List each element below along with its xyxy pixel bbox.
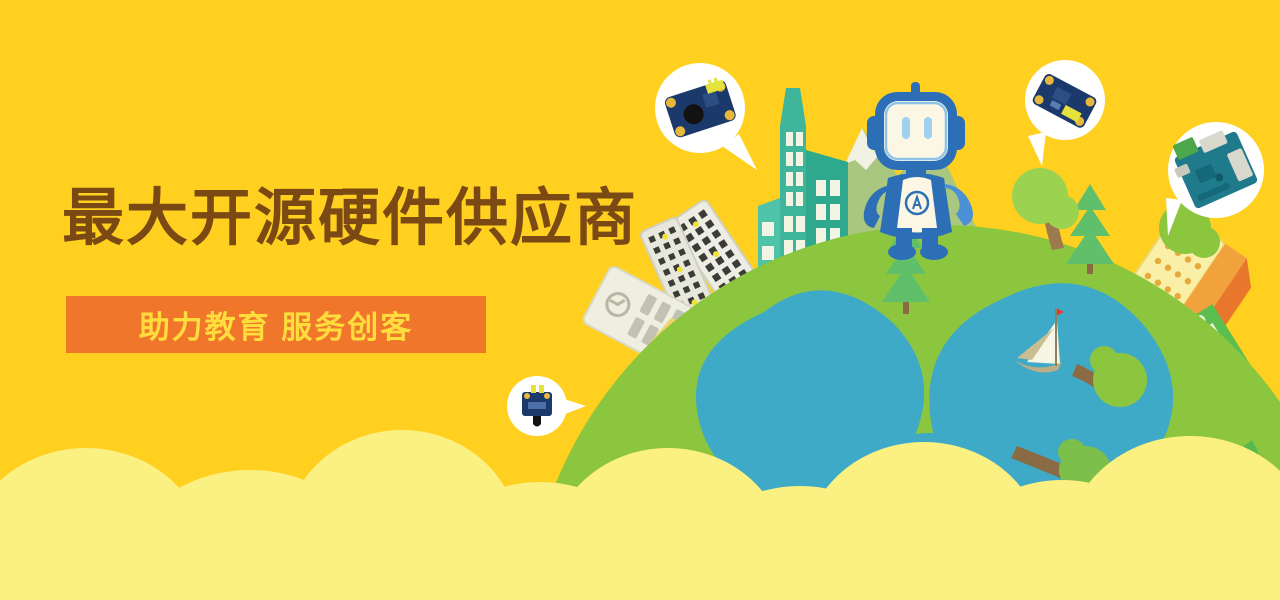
mascot-eye-right: [924, 117, 932, 139]
promo-banner: 最大开源硬件供应商 助力教育 服务创客: [0, 0, 1280, 600]
mascot-eye-left: [902, 117, 910, 139]
banner-illustration: [0, 0, 1280, 600]
